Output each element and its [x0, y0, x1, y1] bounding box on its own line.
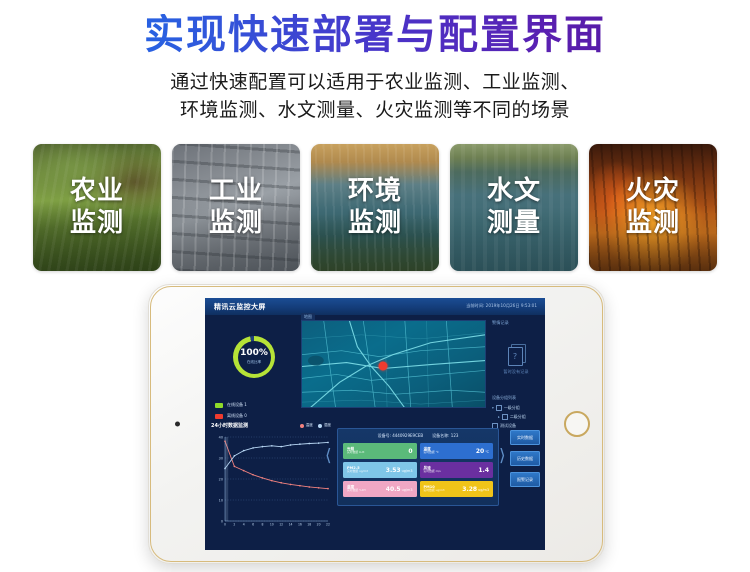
- folder-icon: [502, 414, 508, 420]
- svg-text:10: 10: [270, 523, 274, 527]
- tree-item-label: 二级分组: [510, 414, 526, 420]
- tile-value: 1.4: [478, 467, 489, 474]
- card-label-line2: 监测: [348, 208, 402, 240]
- card-label-line1: 水文: [487, 176, 541, 208]
- document-front-sheet: ?: [508, 347, 523, 366]
- legend-label: 在线设备 1: [227, 402, 247, 408]
- svg-text:8: 8: [261, 523, 263, 527]
- scenario-card-list: 农业 监测 工业 监测 环境 监测 水文 测量: [33, 144, 717, 271]
- tile-text: 温度 实时数据 ℃: [424, 447, 439, 454]
- sensor-tile-grid: 光照 实时数据 LUX 0 温度 实时数据 ℃ 20℃: [338, 439, 498, 497]
- scenario-card-hydrology[interactable]: 水文 测量: [450, 144, 578, 271]
- gauge-inner: 100% 在线比率: [238, 341, 271, 374]
- sensor-tile-windspeed[interactable]: 风速 实时数据 m/s 1.4: [420, 462, 494, 478]
- sensor-tile-pm10[interactable]: PM10 实时数据 ug/m3 3.28ug/m3: [420, 481, 494, 497]
- tablet-screen: 精讯云监控大屏 当前时间: 2019年10月26日 9:53:01 100% 在…: [205, 298, 545, 550]
- map-panel: 地图: [301, 320, 486, 408]
- dashboard-title: 精讯云监控大屏: [214, 302, 266, 312]
- gauge-percent: 100%: [240, 349, 268, 358]
- subtitle-line-1: 通过快速配置可以适用于农业监测、工业监测、: [0, 68, 750, 96]
- chart-title: 24小时数据监测: [211, 422, 248, 429]
- tile-value: 20℃: [476, 448, 489, 455]
- map-canvas[interactable]: [301, 320, 486, 408]
- legend-item-offline: 离线设备 0: [215, 413, 297, 419]
- sensor-tile-pm25[interactable]: PM2.5 实时数据 ug/m3 3.53ug/m3: [343, 462, 417, 478]
- tile-value: 40.5ug/m3: [386, 486, 413, 493]
- device-data-panel: 设备号: 4440929E9CEB 设备名称: 123 光照 实时数据 LUX …: [337, 428, 499, 506]
- tile-subtitle: 实时数据 m/s: [424, 470, 441, 473]
- tile-subtitle: 实时数据 ℃: [424, 451, 439, 454]
- card-label-line1: 环境: [348, 176, 402, 208]
- scenario-card-label: 水文 测量: [450, 144, 578, 271]
- scenario-card-agriculture[interactable]: 农业 监测: [33, 144, 161, 271]
- scenario-card-label: 农业 监测: [33, 144, 161, 271]
- tile-value-unit: ℃: [485, 450, 489, 454]
- tile-value-unit: ug/m3: [402, 488, 413, 492]
- device-id: 设备号: 4440929E9CEB: [378, 433, 424, 439]
- humidity-color-swatch: [318, 424, 322, 428]
- online-rate-panel: 100% 在线比率 在线设备 1 离线设备 0: [211, 320, 297, 424]
- alarm-empty-text: 暂时没有记录: [503, 369, 528, 375]
- offline-color-swatch: [215, 414, 223, 419]
- tile-value: 3.28ug/m3: [462, 486, 489, 493]
- online-color-swatch: [215, 403, 223, 408]
- tile-subtitle: 实时数据 %RH: [347, 489, 366, 492]
- legend-item-online: 在线设备 1: [215, 402, 297, 408]
- svg-text:20: 20: [219, 478, 223, 482]
- front-camera-icon: [175, 422, 180, 427]
- tile-value: 3.53ug/m3: [386, 467, 413, 474]
- promo-page: 实现快速部署与配置界面 通过快速配置可以适用于农业监测、工业监测、 环境监测、水…: [0, 0, 750, 572]
- alarm-panel: 警情记录 ? 暂时没有记录 设备分组列表 ▾ 一级分组: [492, 320, 540, 432]
- realtime-data-button[interactable]: 实时数据: [510, 430, 540, 445]
- chart-legend-item-humidity: 湿度: [318, 423, 331, 428]
- svg-text:22: 22: [326, 523, 330, 527]
- tile-value-number: 20: [476, 448, 484, 455]
- hourly-chart-panel: 24小时数据监测 温度 湿度: [211, 422, 331, 540]
- tile-text: 湿度 实时数据 %RH: [347, 485, 366, 492]
- sensor-tile-humidity[interactable]: 湿度 实时数据 %RH 40.5ug/m3: [343, 481, 417, 497]
- monitoring-dashboard: 精讯云监控大屏 当前时间: 2019年10月26日 9:53:01 100% 在…: [205, 298, 545, 550]
- tree-item-device[interactable]: 测试设备: [492, 423, 540, 429]
- subtitle-line-2: 环境监测、水文测量、火灾监测等不同的场景: [0, 96, 750, 124]
- tree-item-label: 一级分组: [504, 405, 520, 411]
- card-label-line2: 监测: [209, 208, 263, 240]
- card-label-line2: 测量: [487, 208, 541, 240]
- legend-label: 离线设备 0: [227, 413, 247, 419]
- svg-text:4: 4: [243, 523, 245, 527]
- tile-subtitle: 实时数据 LUX: [347, 451, 364, 454]
- scenario-card-environment[interactable]: 环境 监测: [311, 144, 439, 271]
- sensor-tile-temperature[interactable]: 温度 实时数据 ℃ 20℃: [420, 443, 494, 459]
- chart-header: 24小时数据监测 温度 湿度: [211, 422, 331, 429]
- svg-text:30: 30: [219, 457, 223, 461]
- card-label-line1: 工业: [209, 176, 263, 208]
- tile-subtitle: 实时数据 ug/m3: [424, 489, 445, 492]
- chevron-down-icon[interactable]: ▾: [492, 406, 494, 410]
- device-group-title: 设备分组列表: [492, 395, 540, 401]
- chart-legend-label: 温度: [306, 423, 313, 428]
- folder-icon: [496, 405, 502, 411]
- tile-value-number: 3.28: [462, 486, 477, 493]
- card-label-line1: 农业: [70, 176, 124, 208]
- tile-text: PM10 实时数据 ug/m3: [424, 485, 445, 492]
- alarm-panel-label: 警情记录: [492, 320, 540, 326]
- svg-text:0: 0: [221, 520, 223, 524]
- dashboard-header: 精讯云监控大屏 当前时间: 2019年10月26日 9:53:01: [205, 298, 545, 315]
- svg-text:0: 0: [224, 523, 226, 527]
- card-label-line2: 监测: [70, 208, 124, 240]
- page-subtitle: 通过快速配置可以适用于农业监测、工业监测、 环境监测、水文测量、火灾监测等不同的…: [0, 68, 750, 124]
- scenario-card-label: 火灾 监测: [589, 144, 717, 271]
- current-time: 当前时间: 2019年10月26日 9:53:01: [466, 303, 537, 309]
- map-roads-icon: [302, 321, 485, 408]
- svg-text:16: 16: [298, 523, 302, 527]
- svg-text:12: 12: [279, 523, 283, 527]
- empty-document-icon: ?: [508, 344, 525, 364]
- line-chart-svg: 0102030400246810121416182022: [211, 433, 331, 533]
- map-location-marker[interactable]: [378, 361, 387, 370]
- temperature-color-swatch: [300, 424, 304, 428]
- prev-device-arrow-icon[interactable]: ⟨: [325, 448, 332, 465]
- tile-value: 0: [408, 448, 412, 455]
- svg-text:10: 10: [219, 499, 223, 503]
- svg-text:6: 6: [252, 523, 254, 527]
- device-name: 设备名称: 123: [432, 433, 458, 439]
- device-group-tree: ▾ 一级分组 ▸ 二级分组 测试设备: [492, 405, 540, 429]
- chevron-right-icon[interactable]: ▸: [498, 415, 500, 419]
- tile-value-number: 40.5: [386, 486, 401, 493]
- scenario-card-fire[interactable]: 火灾 监测: [589, 144, 717, 271]
- scenario-card-industry[interactable]: 工业 监测: [172, 144, 300, 271]
- gauge-caption: 在线比率: [247, 360, 261, 365]
- tile-value-unit: ug/m3: [478, 488, 489, 492]
- svg-text:20: 20: [317, 523, 321, 527]
- home-button[interactable]: [564, 411, 590, 437]
- tree-item-level2[interactable]: ▸ 二级分组: [498, 414, 540, 420]
- dashboard-action-buttons: 实时数据 历史数据 报警记录: [510, 430, 540, 493]
- alarm-empty-state: ? 暂时没有记录: [492, 344, 540, 375]
- svg-text:18: 18: [307, 523, 311, 527]
- history-data-button[interactable]: 历史数据: [510, 451, 540, 466]
- scenario-card-label: 环境 监测: [311, 144, 439, 271]
- sensor-tile-illuminance[interactable]: 光照 实时数据 LUX 0: [343, 443, 417, 459]
- card-label-line1: 火灾: [626, 176, 680, 208]
- chart-legend-item-temperature: 温度: [300, 423, 313, 428]
- tile-subtitle: 实时数据 ug/m3: [347, 470, 368, 473]
- svg-text:14: 14: [289, 523, 293, 527]
- card-label-line2: 监测: [626, 208, 680, 240]
- tile-text: 风速 实时数据 m/s: [424, 466, 441, 473]
- chart-legend: 温度 湿度: [300, 423, 331, 428]
- tile-text: PM2.5 实时数据 ug/m3: [347, 466, 368, 473]
- svg-text:2: 2: [233, 523, 235, 527]
- chart-plot-area: 0102030400246810121416182022: [211, 433, 331, 533]
- tile-value-unit: ug/m3: [402, 469, 413, 473]
- page-title: 实现快速部署与配置界面: [0, 14, 750, 56]
- svg-text:40: 40: [219, 436, 223, 440]
- chart-legend-label: 湿度: [324, 423, 331, 428]
- tree-item-level1[interactable]: ▾ 一级分组: [492, 405, 540, 411]
- device-header: 设备号: 4440929E9CEB 设备名称: 123: [338, 429, 498, 439]
- tree-item-label: 测试设备: [500, 423, 516, 429]
- scenario-card-label: 工业 监测: [172, 144, 300, 271]
- alarm-record-button[interactable]: 报警记录: [510, 472, 540, 487]
- tablet-device: 精讯云监控大屏 当前时间: 2019年10月26日 9:53:01 100% 在…: [148, 284, 605, 564]
- next-device-arrow-icon[interactable]: ⟩: [499, 448, 506, 465]
- device-status-legend: 在线设备 1 离线设备 0: [215, 402, 297, 419]
- tile-value-number: 3.53: [386, 467, 401, 474]
- gauge-wrap: 100% 在线比率: [211, 336, 297, 378]
- online-rate-gauge: 100% 在线比率: [233, 336, 275, 378]
- tile-text: 光照 实时数据 LUX: [347, 447, 364, 454]
